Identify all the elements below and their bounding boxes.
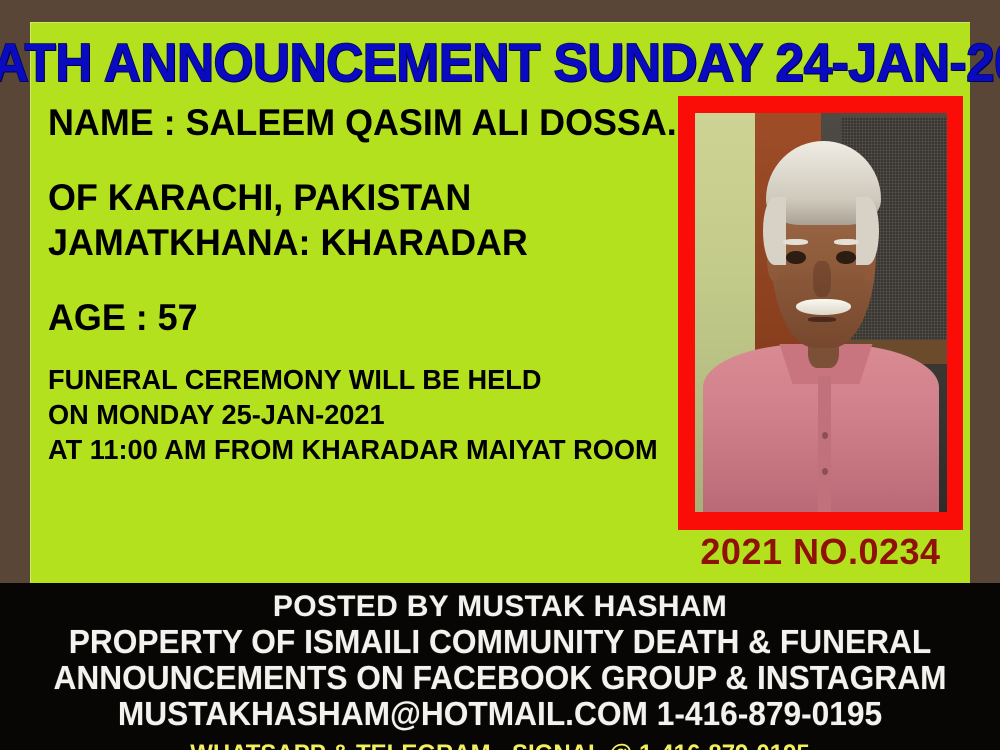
photo-block: 2021 NO.0234 bbox=[678, 96, 963, 551]
footer-posted-by: POSTED BY MUSTAK HASHAM bbox=[0, 589, 1000, 624]
announcement-number: 2021 NO.0234 bbox=[678, 532, 963, 572]
spacer bbox=[48, 265, 708, 295]
photo-shirt-placket bbox=[818, 376, 831, 512]
footer-content: POSTED BY MUSTAK HASHAM PROPERTY OF ISMA… bbox=[0, 583, 1000, 750]
spacer bbox=[48, 340, 708, 362]
funeral-line-2: ON MONDAY 25-JAN-2021 bbox=[48, 397, 688, 432]
photo-mouth bbox=[808, 317, 836, 321]
footer-banner: POSTED BY MUSTAK HASHAM PROPERTY OF ISMA… bbox=[0, 583, 1000, 750]
footer-whatsapp-line: WHATSAPP & TELEGRAM - SIGNAL @ 1-416-879… bbox=[20, 739, 980, 750]
death-announcement-poster: DEATH ANNOUNCEMENT SUNDAY 24-JAN-2021 NA… bbox=[0, 0, 1000, 750]
footer-email-phone-line: MUSTAKHASHAM@HOTMAIL.COM 1-416-879-0195 bbox=[20, 696, 980, 732]
photo-hair-side-left bbox=[763, 197, 786, 265]
photo-red-frame bbox=[678, 96, 963, 530]
photo-hair-side-right bbox=[856, 197, 879, 265]
funeral-line-1: FUNERAL CEREMONY WILL BE HELD bbox=[48, 362, 688, 397]
page-title: DEATH ANNOUNCEMENT SUNDAY 24-JAN-2021 bbox=[0, 36, 1000, 90]
photo-eyebrow-right bbox=[834, 239, 859, 245]
deceased-details: NAME : SALEEM QASIM ALI DOSSA. OF KARACH… bbox=[48, 100, 708, 467]
footer-announcements-line: ANNOUNCEMENTS ON FACEBOOK GROUP & INSTAG… bbox=[20, 660, 980, 696]
poster-title-bar: DEATH ANNOUNCEMENT SUNDAY 24-JAN-2021 bbox=[30, 32, 970, 94]
photo-nose bbox=[813, 261, 831, 297]
announcement-card: DEATH ANNOUNCEMENT SUNDAY 24-JAN-2021 NA… bbox=[30, 22, 970, 585]
spacer bbox=[48, 145, 708, 175]
deceased-age-line: AGE : 57 bbox=[48, 295, 688, 340]
deceased-jamatkhana-line: JAMATKHANA: KHARADAR bbox=[48, 220, 688, 265]
photo-shirt-button-upper bbox=[822, 432, 828, 439]
deceased-portrait-photo bbox=[695, 113, 947, 512]
photo-eyebrow-left bbox=[783, 239, 808, 245]
footer-property-line: PROPERTY OF ISMAILI COMMUNITY DEATH & FU… bbox=[20, 624, 980, 660]
deceased-city-line: OF KARACHI, PAKISTAN bbox=[48, 175, 688, 220]
photo-eye-left bbox=[786, 251, 806, 265]
photo-shirt-button-lower bbox=[822, 468, 828, 475]
funeral-line-3: AT 11:00 AM FROM KHARADAR MAIYAT ROOM bbox=[48, 432, 688, 467]
deceased-name-line: NAME : SALEEM QASIM ALI DOSSA. bbox=[48, 100, 688, 145]
